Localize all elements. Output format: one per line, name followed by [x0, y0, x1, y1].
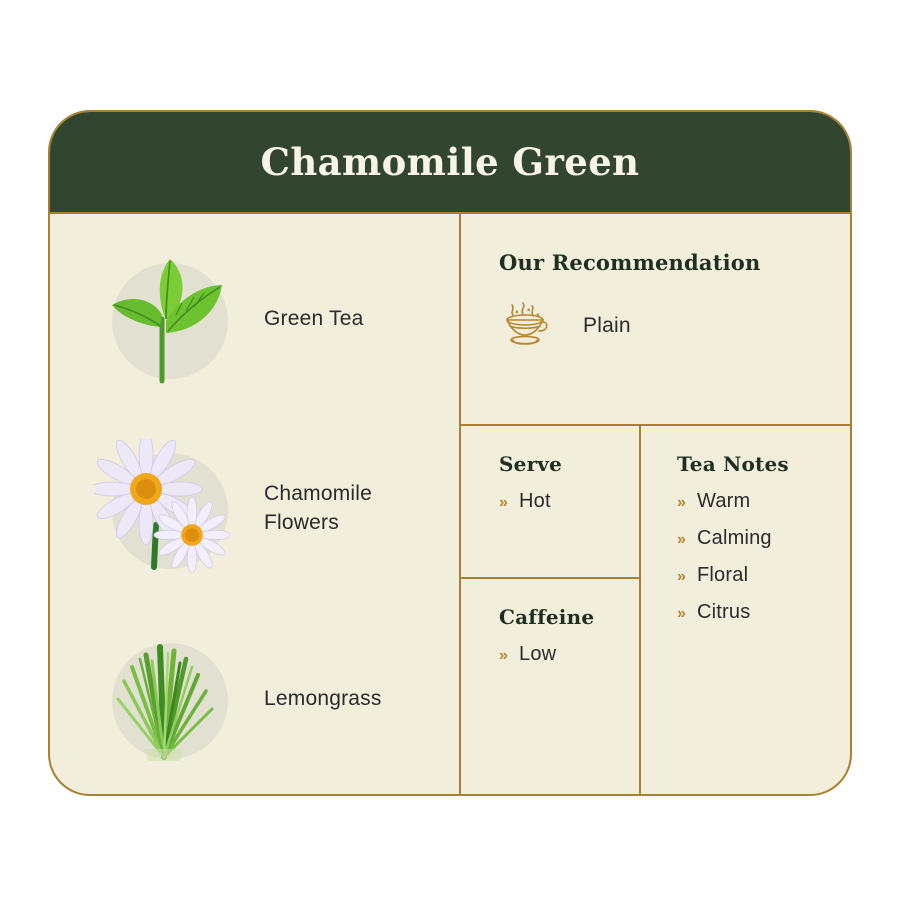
ingredient-row: Chamomile Flowers [50, 414, 459, 604]
recommendation-heading: Our Recommendation [499, 250, 850, 275]
bullet-chevron-icon: » [499, 494, 519, 512]
serve-heading: Serve [499, 452, 639, 476]
card-body: Green Tea [50, 214, 850, 794]
ingredient-label: Green Tea [264, 305, 363, 334]
caffeine-section: Caffeine » Low [461, 579, 639, 794]
tea-notes-list: » Warm » Calming » Floral [677, 490, 850, 624]
ingredient-label: Chamomile Flowers [264, 480, 372, 538]
page-title: Chamomile Green [261, 140, 640, 184]
bullet-chevron-icon: » [677, 568, 697, 586]
tea-note-value: Floral [697, 564, 748, 587]
ingredient-row: Green Tea [50, 224, 459, 414]
teacup-icon [499, 297, 551, 354]
list-item: » Citrus [677, 601, 850, 624]
list-item: » Floral [677, 564, 850, 587]
tea-info-card: Chamomile Green [48, 110, 852, 796]
recommendation-value: Plain [583, 314, 631, 338]
bullet-chevron-icon: » [677, 605, 697, 623]
tea-notes-section: Tea Notes » Warm » Calming » [641, 426, 850, 794]
caffeine-value: Low [519, 643, 556, 666]
list-item: » Low [499, 643, 639, 666]
list-item: » Hot [499, 490, 639, 513]
bullet-chevron-icon: » [677, 531, 697, 549]
green-tea-leaves-image [90, 245, 238, 393]
chamomile-flowers-image [90, 435, 238, 583]
ingredient-label: Lemongrass [264, 685, 382, 714]
ingredient-row: Lemongrass [50, 604, 459, 794]
details-panel: Our Recommendation [461, 214, 850, 794]
recommendation-section: Our Recommendation [461, 214, 850, 426]
caffeine-heading: Caffeine [499, 605, 639, 629]
caffeine-list: » Low [499, 643, 639, 666]
tea-note-value: Citrus [697, 601, 750, 624]
lemongrass-image [90, 625, 238, 773]
serve-section: Serve » Hot [461, 426, 639, 579]
bullet-chevron-icon: » [499, 647, 519, 665]
serve-list: » Hot [499, 490, 639, 513]
attributes-grid: Serve » Hot Caffeine [461, 426, 850, 794]
tea-note-value: Calming [697, 527, 772, 550]
list-item: » Calming [677, 527, 850, 550]
tea-note-value: Warm [697, 490, 750, 513]
bullet-chevron-icon: » [677, 494, 697, 512]
tea-notes-heading: Tea Notes [677, 452, 850, 476]
page-canvas: Chamomile Green [0, 0, 900, 900]
ingredients-column: Green Tea [50, 214, 461, 794]
list-item: » Warm [677, 490, 850, 513]
serve-caffeine-column: Serve » Hot Caffeine [461, 426, 641, 794]
card-header: Chamomile Green [50, 112, 850, 214]
serve-value: Hot [519, 490, 551, 513]
recommendation-row: Plain [499, 297, 850, 354]
